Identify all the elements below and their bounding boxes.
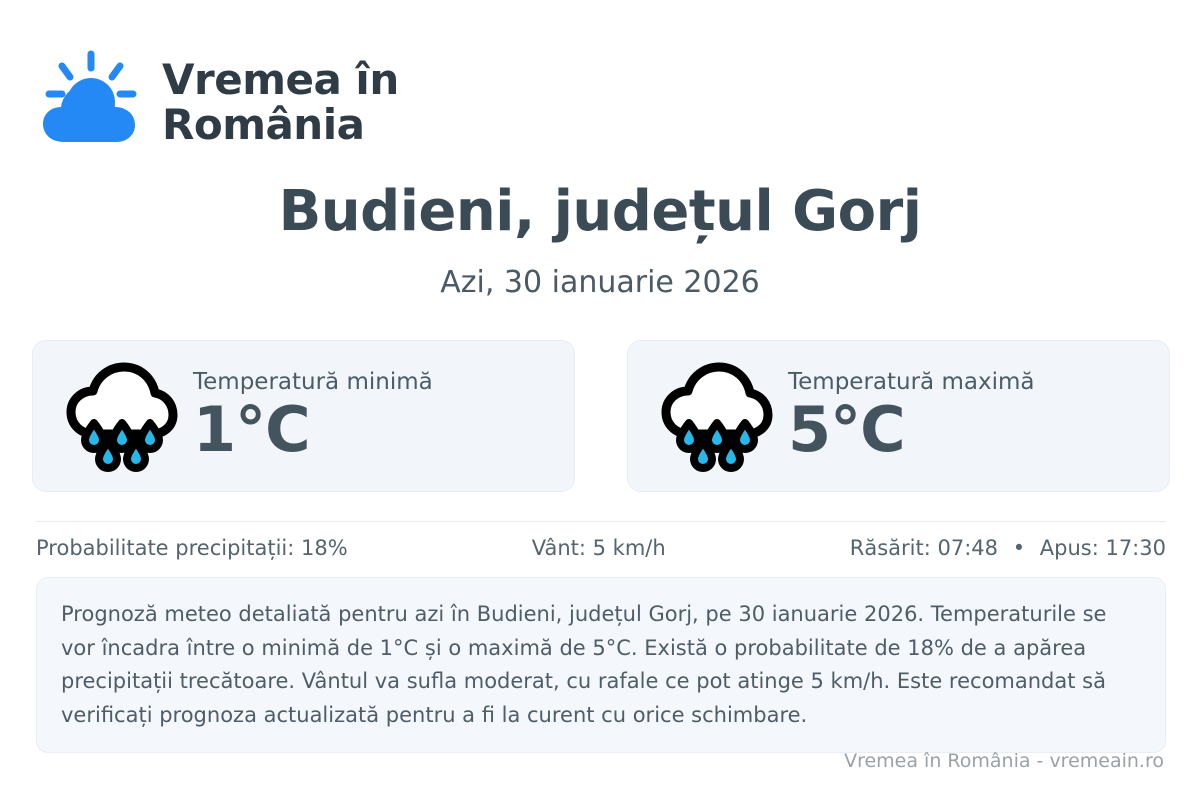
temperature-min-body: Temperatură minimă 1°C — [193, 370, 433, 462]
temperature-max-label: Temperatură maximă — [788, 370, 1034, 395]
page-subtitle: Azi, 30 ianuarie 2026 — [0, 265, 1200, 300]
stat-separator: • — [1013, 536, 1025, 560]
sun-times-stat: Răsărit: 07:48 • Apus: 17:30 — [850, 536, 1166, 560]
wind-stat: Vânt: 5 km/h — [532, 536, 666, 560]
weather-stats: Probabilitate precipitații: 18% Vânt: 5 … — [36, 536, 1166, 560]
sunset-value: Apus: 17:30 — [1040, 536, 1166, 560]
precipitation-stat: Probabilitate precipitații: 18% — [36, 536, 348, 560]
rain-cloud-icon — [656, 360, 774, 472]
temperature-max-body: Temperatură maximă 5°C — [788, 370, 1034, 462]
page-title: Budieni, județul Gorj — [0, 181, 1200, 243]
temperature-min-value: 1°C — [193, 397, 433, 462]
temperature-min-card: Temperatură minimă 1°C — [32, 340, 575, 492]
footer-credit: Vremea în România - vremeain.ro — [844, 750, 1164, 772]
temperature-min-label: Temperatură minimă — [193, 370, 433, 395]
temperature-cards: Temperatură minimă 1°C Temperatură maxim… — [32, 340, 1170, 492]
weather-page: Vremea în România Budieni, județul Gorj … — [0, 0, 1200, 800]
temperature-max-card: Temperatură maximă 5°C — [627, 340, 1170, 492]
forecast-description: Prognoză meteo detaliată pentru azi în B… — [36, 577, 1166, 753]
brand-logo[interactable]: Vremea în România — [36, 48, 399, 156]
sun-behind-cloud-icon — [36, 48, 144, 156]
temperature-max-value: 5°C — [788, 397, 1034, 462]
sunrise-value: Răsărit: 07:48 — [850, 536, 998, 560]
brand-name: Vremea în România — [162, 57, 399, 148]
rain-cloud-icon — [61, 360, 179, 472]
stats-divider — [36, 521, 1166, 522]
